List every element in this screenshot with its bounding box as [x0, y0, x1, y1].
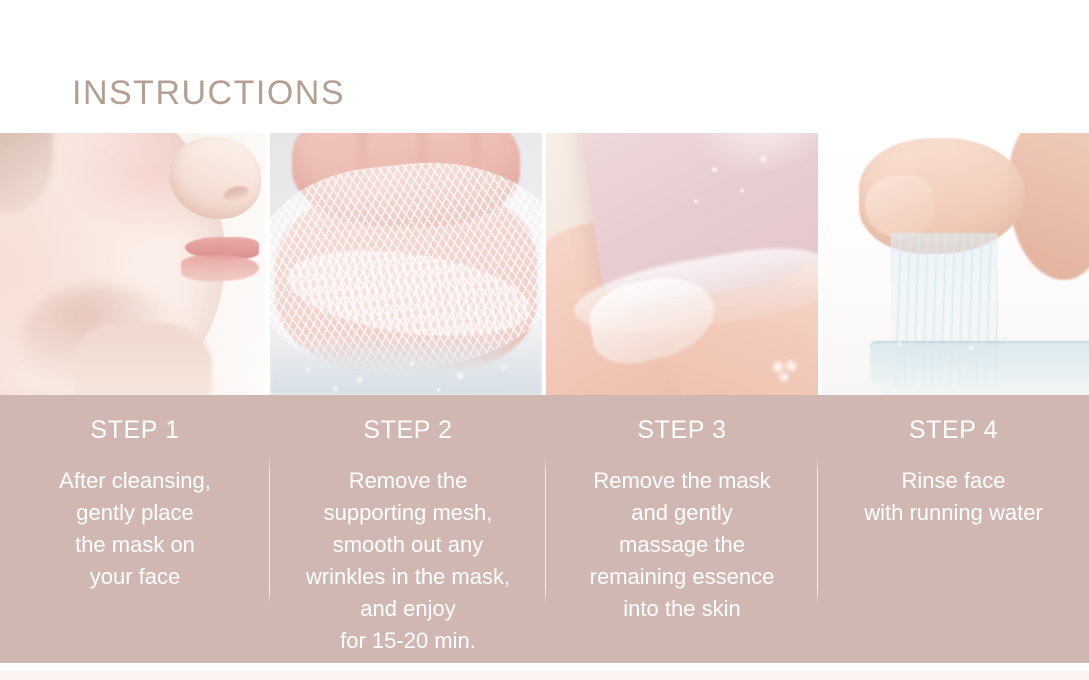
- step-photo-2: [270, 133, 542, 395]
- step-1-line-1: After cleansing,: [0, 465, 270, 497]
- step-2-line-2: supporting mesh,: [270, 497, 546, 529]
- mesh-removal-image: [270, 133, 542, 395]
- step-3-line-3: massage the: [546, 529, 818, 561]
- photo2-bubbles: [270, 327, 542, 395]
- photo4-thumb: [865, 175, 934, 238]
- steps-band: STEP 1 After cleansing, gently place the…: [0, 395, 1089, 663]
- step-1-line-2: gently place: [0, 497, 270, 529]
- step-2-line-4: wrinkles in the mask,: [270, 561, 546, 593]
- step-2-line-6: for 15-20 min.: [270, 625, 546, 657]
- step-2-title: STEP 2: [270, 417, 546, 445]
- step-column-1: STEP 1 After cleansing, gently place the…: [0, 395, 270, 663]
- step-1-description: After cleansing, gently place the mask o…: [0, 465, 270, 593]
- photo1-neck: [74, 322, 212, 395]
- step-photo-3: [546, 133, 818, 395]
- bottom-white-strip: [0, 663, 1089, 671]
- step-1-title: STEP 1: [0, 417, 270, 445]
- step-3-line-2: and gently: [546, 497, 818, 529]
- step-2-line-1: Remove the: [270, 465, 546, 497]
- step-4-line-2: with running water: [818, 497, 1089, 529]
- photo4-water-splash: [881, 327, 1036, 369]
- step-1-line-3: the mask on: [0, 529, 270, 561]
- mask-removal-image: [546, 133, 818, 395]
- step-4-title: STEP 4: [818, 417, 1089, 445]
- rinse-face-image: [822, 133, 1089, 395]
- step-1-line-4: your face: [0, 561, 270, 593]
- step-3-line-4: remaining essence: [546, 561, 818, 593]
- step-2-line-3: smooth out any: [270, 529, 546, 561]
- step-4-description: Rinse face with running water: [818, 465, 1089, 529]
- step-4-line-1: Rinse face: [818, 465, 1089, 497]
- page-title: INSTRUCTIONS: [72, 74, 345, 113]
- step-2-line-5: and enjoy: [270, 593, 546, 625]
- instruction-photo-strip: [0, 133, 1089, 395]
- step-column-2: STEP 2 Remove the supporting mesh, smoot…: [270, 395, 546, 663]
- face-profile-image: [0, 133, 265, 395]
- step-3-title: STEP 3: [546, 417, 818, 445]
- steps-row: STEP 1 After cleansing, gently place the…: [0, 395, 1089, 663]
- step-3-description: Remove the mask and gently massage the r…: [546, 465, 818, 625]
- step-3-line-5: into the skin: [546, 593, 818, 625]
- step-2-description: Remove the supporting mesh, smooth out a…: [270, 465, 546, 657]
- step-3-line-1: Remove the mask: [546, 465, 818, 497]
- photo3-flower-decoration: [768, 355, 802, 385]
- step-column-3: STEP 3 Remove the mask and gently massag…: [546, 395, 818, 663]
- photo1-lower-lip: [181, 255, 259, 281]
- header-area: INSTRUCTIONS: [0, 0, 1089, 133]
- step-column-4: STEP 4 Rinse face with running water: [818, 395, 1089, 663]
- step-photo-1: [0, 133, 265, 395]
- bottom-tint-strip: [0, 671, 1089, 680]
- step-photo-4: [822, 133, 1089, 395]
